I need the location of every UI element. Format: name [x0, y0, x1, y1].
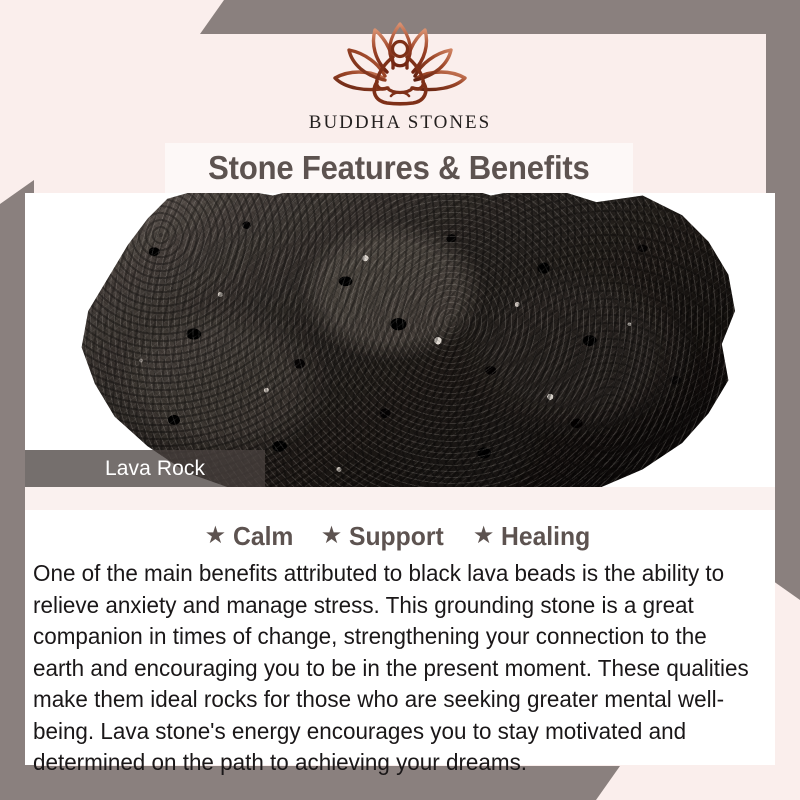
star-icon: ★: [321, 524, 343, 548]
page-title: Stone Features & Benefits: [208, 149, 589, 187]
lava-rock-photo: Lava Rock: [25, 193, 775, 487]
benefit-label: Support: [349, 521, 444, 552]
benefit-item-healing: ★ Healing: [473, 521, 595, 552]
brand-name: BUDDHA STONES: [309, 112, 491, 134]
photo-caption-label: Lava Rock: [105, 457, 205, 481]
brand-logo-block: BUDDHA STONES: [0, 18, 800, 143]
title-band: Stone Features & Benefits: [165, 143, 633, 193]
lotus-meditation-icon: [325, 18, 475, 110]
body-paragraph: One of the main benefits attributed to b…: [33, 558, 759, 779]
benefit-item-support: ★ Support: [321, 521, 449, 552]
star-icon: ★: [205, 524, 227, 548]
benefit-item-calm: ★ Calm: [205, 521, 297, 552]
benefit-label: Calm: [233, 521, 293, 552]
star-icon: ★: [473, 524, 495, 548]
photo-caption-band: Lava Rock: [25, 450, 265, 487]
stone-features-infographic: BUDDHA STONES Stone Features & Benefits …: [0, 0, 800, 800]
benefit-label: Healing: [501, 521, 590, 552]
section-divider: [25, 487, 775, 510]
lava-rock-shape: [75, 193, 735, 487]
benefits-row: ★ Calm ★ Support ★ Healing: [25, 516, 775, 556]
